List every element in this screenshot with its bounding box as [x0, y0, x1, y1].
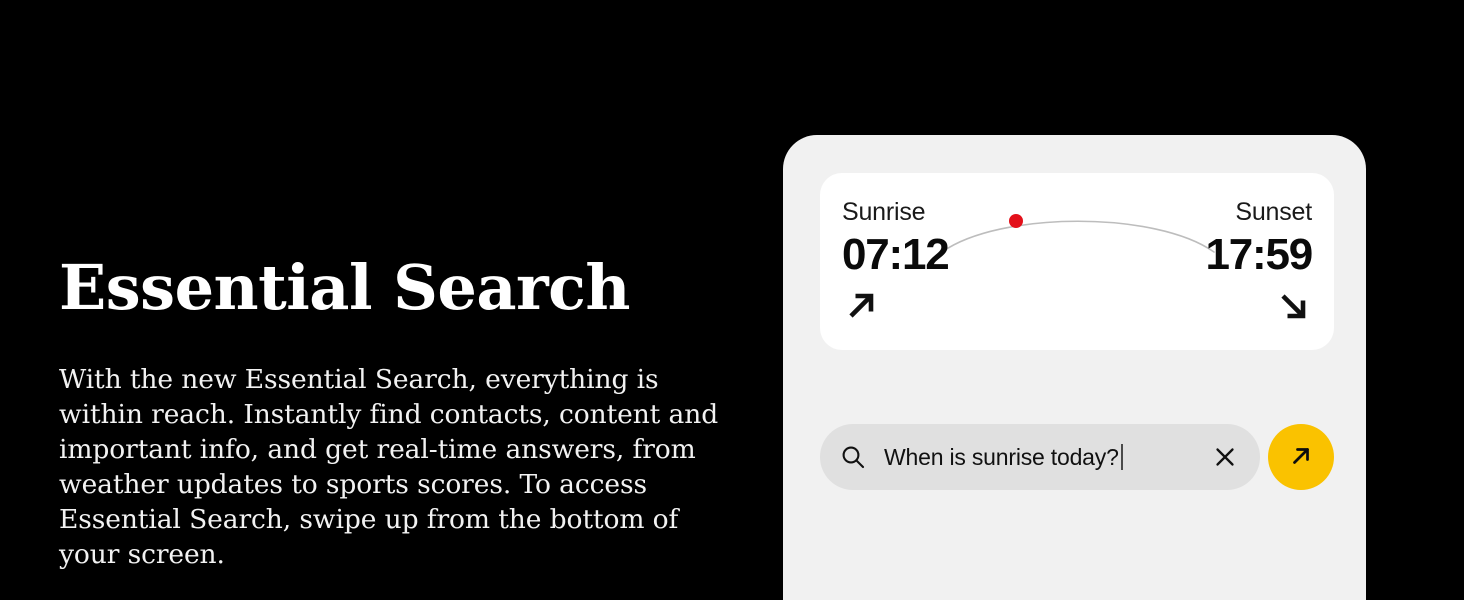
search-input-value: When is sunrise today?: [884, 444, 1119, 471]
arrow-down-right-icon: [1132, 285, 1312, 327]
search-input-text-wrap: When is sunrise today?: [884, 444, 1212, 471]
submit-search-button[interactable]: [1268, 424, 1334, 490]
phone-screen-panel: Sunrise 07:12 Sunset 17:59: [783, 135, 1366, 600]
promo-description: With the new Essential Search, everythin…: [59, 362, 724, 572]
sunrise-block: Sunrise 07:12: [842, 197, 1022, 327]
page-title: Essential Search: [59, 255, 739, 320]
promo-stage: Essential Search With the new Essential …: [0, 0, 1464, 600]
sunrise-time: 07:12: [842, 229, 1022, 281]
search-input[interactable]: When is sunrise today?: [820, 424, 1260, 490]
text-caret: [1121, 444, 1123, 470]
sunset-time: 17:59: [1132, 229, 1312, 281]
arrow-up-right-icon: [842, 285, 1022, 327]
clear-search-button[interactable]: [1212, 444, 1238, 470]
search-row: When is sunrise today?: [820, 424, 1334, 490]
sunrise-sunset-widget[interactable]: Sunrise 07:12 Sunset 17:59: [820, 173, 1334, 350]
sunset-label: Sunset: [1132, 197, 1312, 227]
arrow-up-right-icon: [1288, 443, 1314, 472]
sunrise-label: Sunrise: [842, 197, 1022, 227]
search-icon: [840, 444, 866, 470]
sunset-block: Sunset 17:59: [1132, 197, 1312, 327]
promo-copy: Essential Search With the new Essential …: [59, 255, 739, 572]
